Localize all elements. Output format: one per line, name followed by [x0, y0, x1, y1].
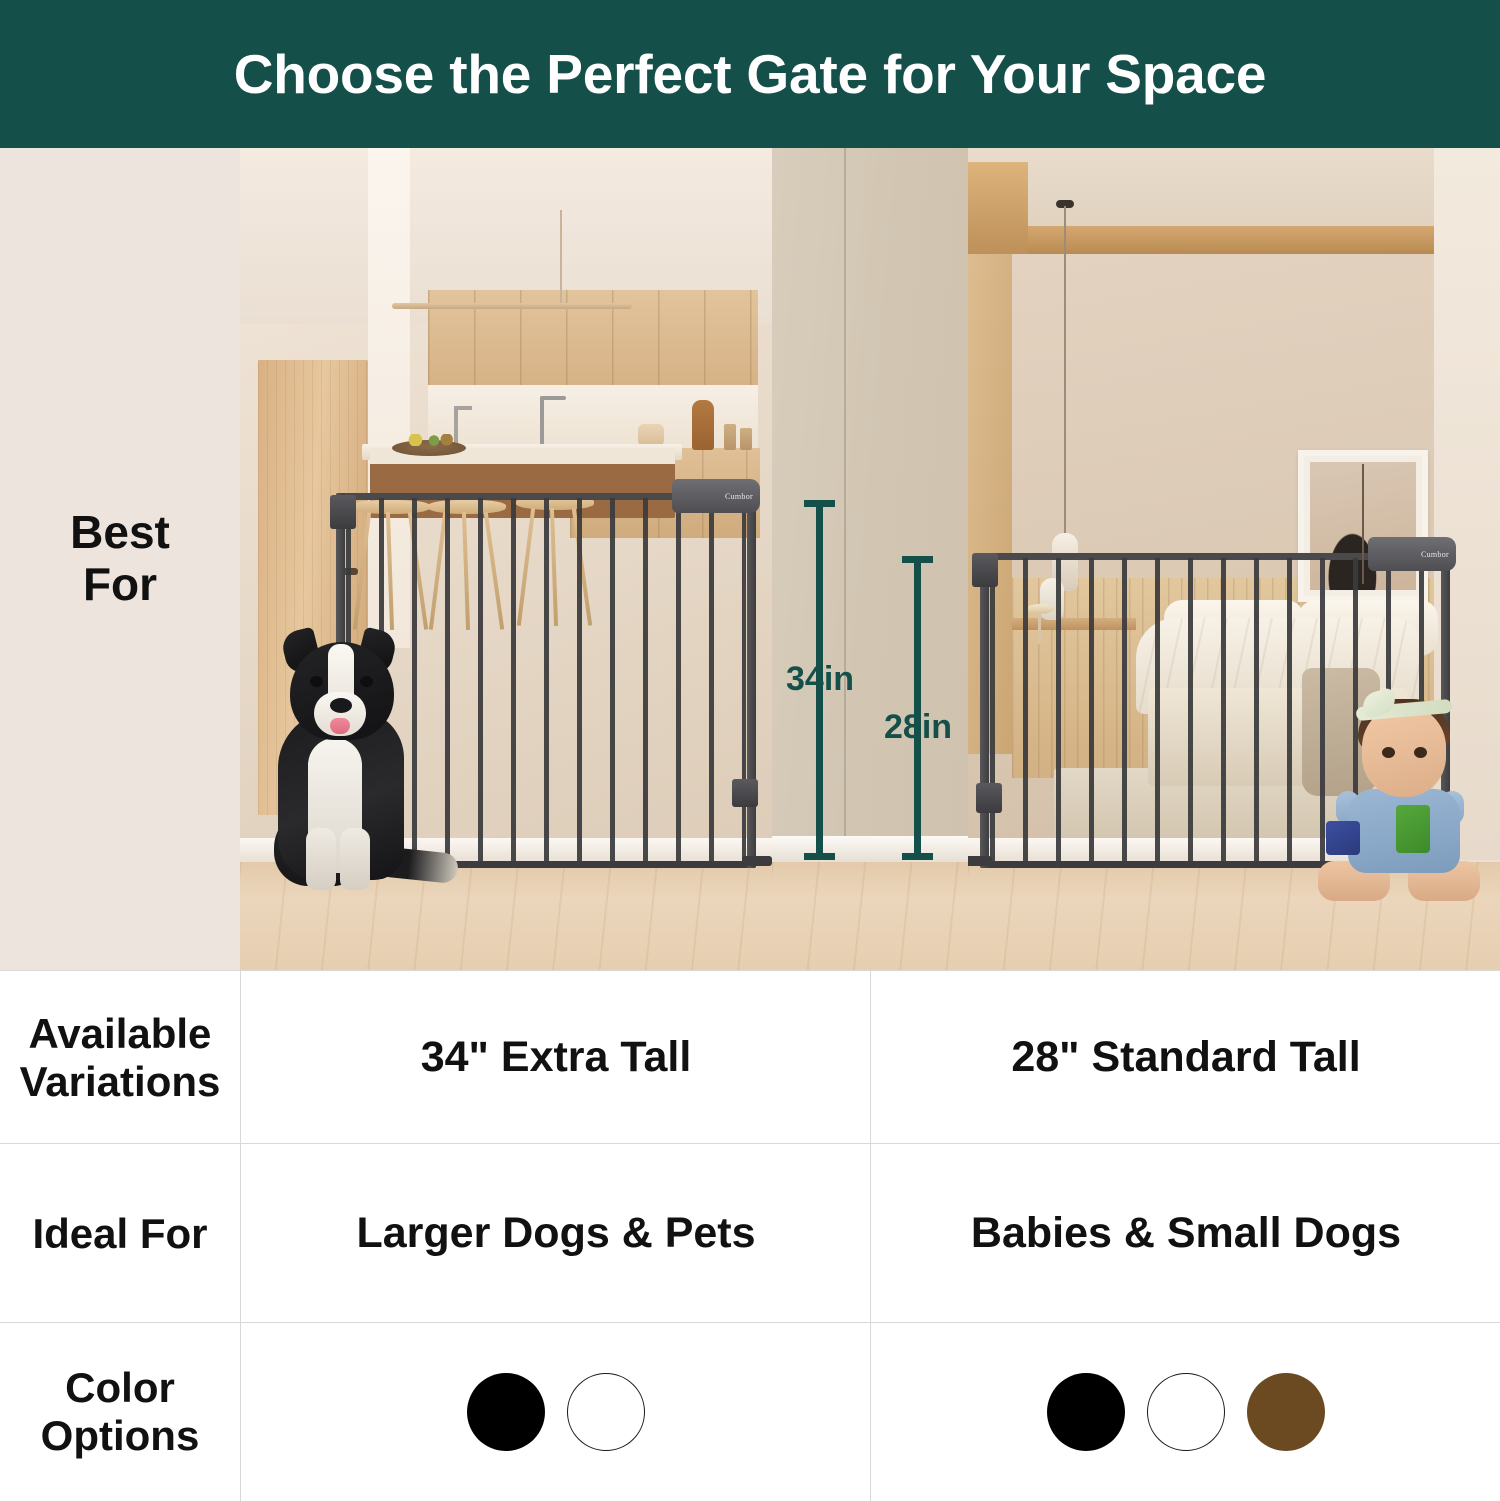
cell-variations-standard: 28" Standard Tall [870, 971, 1500, 1144]
dog-front-leg-left [306, 828, 336, 890]
ceiling-beam [968, 226, 1434, 254]
page-title: Choose the Perfect Gate for Your Space [234, 42, 1267, 106]
infographic-page: Choose the Perfect Gate for Your Space B… [0, 0, 1500, 1500]
cell-variations-tall: 34" Extra Tall [240, 971, 871, 1144]
fruit-bowl [392, 440, 466, 456]
value-babies-small-dogs: Babies & Small Dogs [971, 1209, 1401, 1258]
cell-ideal-for-standard: Babies & Small Dogs [870, 1144, 1500, 1323]
artwork-line [1362, 464, 1364, 584]
color-swatch-tall-2[interactable] [567, 1373, 645, 1451]
toy-block-green [1396, 805, 1430, 853]
row-label-line2: Options [41, 1412, 200, 1459]
gate-latch-handle[interactable]: Cumbor [1368, 537, 1456, 571]
gate-bottom-hinge [732, 779, 758, 807]
value-28-standard-tall: 28" Standard Tall [1011, 1033, 1360, 1082]
hero-comparison-row: Best For [0, 148, 1500, 970]
table-row-ideal-for: Ideal For Larger Dogs & Pets Babies & Sm… [0, 1143, 1500, 1323]
value-34-extra-tall: 34" Extra Tall [421, 1033, 692, 1082]
gate-bottom-hinge [976, 783, 1002, 813]
scene-kitchen-tall-gate: Cumbor [240, 148, 772, 970]
gate-right-post [747, 493, 756, 868]
toy-block-blue [1326, 821, 1360, 855]
row-label-line1: Best [70, 506, 170, 558]
row-label-line2: For [83, 558, 157, 610]
color-swatch-group-tall [467, 1373, 645, 1451]
dog-tongue [330, 718, 350, 734]
color-swatch-standard-1[interactable] [1047, 1373, 1125, 1451]
divider-floor [772, 860, 968, 970]
color-swatch-group-standard [1047, 1373, 1325, 1451]
ceiling-beam-corner [968, 162, 1028, 254]
brand-mark: Cumbor [725, 492, 760, 501]
jar-1 [724, 424, 736, 450]
cutting-board [692, 400, 714, 450]
table-row-color-options: Color Options [0, 1322, 1500, 1501]
color-swatch-standard-3[interactable] [1247, 1373, 1325, 1451]
color-swatch-standard-2[interactable] [1147, 1373, 1225, 1451]
gate-top-hinge [972, 553, 998, 587]
baby-with-blocks [1304, 693, 1494, 908]
row-label-line1: Color [65, 1364, 175, 1411]
row-label-cell: Color Options [0, 1323, 240, 1501]
divider-wall [772, 148, 968, 860]
cell-colors-standard [870, 1323, 1500, 1501]
cell-ideal-for-tall: Larger Dogs & Pets [240, 1144, 871, 1323]
scene-bedroom-standard-gate: Cumbor [968, 148, 1500, 970]
gate-foot [968, 856, 992, 866]
row-label-text: Available Variations [20, 1010, 221, 1106]
pendant-light-rod [560, 210, 562, 305]
gate-top-hinge [330, 495, 356, 529]
baby-eye-right [1414, 747, 1427, 758]
wall-seam [844, 148, 846, 860]
header-banner: Choose the Perfect Gate for Your Space [0, 0, 1500, 148]
gate-foot [742, 856, 772, 866]
row-label-line2: Variations [20, 1058, 221, 1105]
dog-nose [330, 698, 352, 713]
dog-eye-right [360, 676, 373, 687]
row-label-text: Best For [70, 507, 170, 610]
border-collie-dog [248, 618, 458, 903]
row-label-line1: Available [29, 1010, 212, 1057]
row-label-cell: Available Variations [0, 971, 240, 1144]
gate-left-post [980, 553, 989, 868]
dimension-label-34in: 34in [786, 660, 854, 699]
dog-front-leg-right [340, 828, 370, 890]
baby-eye-left [1382, 747, 1395, 758]
table-row-available-variations: Available Variations 34" Extra Tall 28" … [0, 970, 1500, 1144]
divider-baseboard [772, 836, 968, 862]
color-swatch-tall-1[interactable] [467, 1373, 545, 1451]
row-label-best-for: Best For [0, 148, 240, 970]
cell-colors-tall [240, 1323, 871, 1501]
brand-mark: Cumbor [1421, 550, 1456, 559]
dog-eye-left [310, 676, 323, 687]
scene-dimension-wall: 34in 28in [772, 148, 968, 970]
pendant-cord [1064, 206, 1066, 536]
gate-latch-handle[interactable]: Cumbor [672, 479, 760, 513]
row-label-text: Ideal For [32, 1210, 207, 1258]
jar-2 [740, 428, 752, 450]
pendant-light-bar [392, 303, 632, 309]
dimension-label-28in: 28in [884, 708, 952, 747]
row-label-cell: Ideal For [0, 1144, 240, 1323]
row-label-text: Color Options [41, 1364, 200, 1460]
value-larger-dogs-pets: Larger Dogs & Pets [356, 1209, 755, 1258]
